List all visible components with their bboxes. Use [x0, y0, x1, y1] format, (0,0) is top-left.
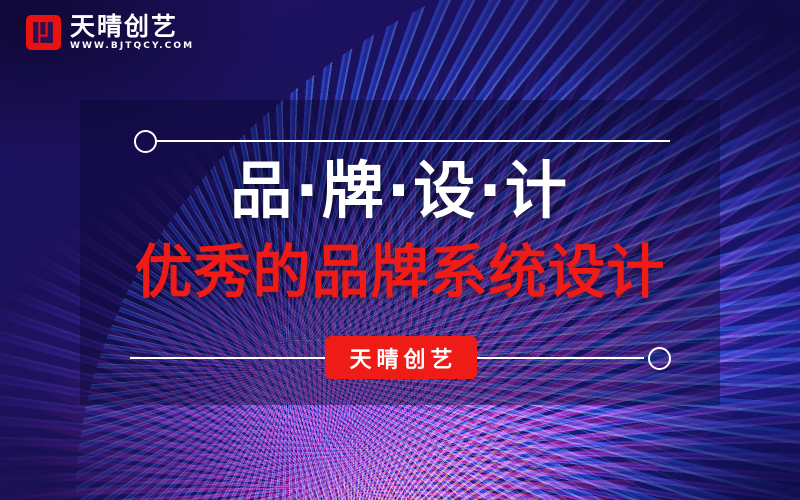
bottom-divider-ring-icon: [648, 347, 671, 370]
logo-website-url: WWW.BJTQCY.COM: [70, 42, 194, 51]
brand-badge: 天晴创艺: [325, 336, 477, 379]
page-subtitle: 优秀的品牌系统设计: [0, 243, 800, 301]
top-divider-line: [156, 140, 670, 142]
logo-brand-name: 天晴创艺: [70, 14, 194, 39]
logo-glyph-icon: [31, 20, 56, 45]
top-divider-ring-icon: [134, 130, 157, 153]
logo-lockup[interactable]: 天晴创艺 WWW.BJTQCY.COM: [26, 14, 194, 51]
brand-design-banner: 品·牌·设·计 优秀的品牌系统设计 天晴创艺 天晴创艺 WWW.BJTQCY.C…: [0, 0, 800, 500]
logo-text-block: 天晴创艺 WWW.BJTQCY.COM: [70, 14, 194, 51]
logo-mark-icon: [26, 15, 61, 50]
page-title: 品·牌·设·计: [0, 160, 800, 222]
